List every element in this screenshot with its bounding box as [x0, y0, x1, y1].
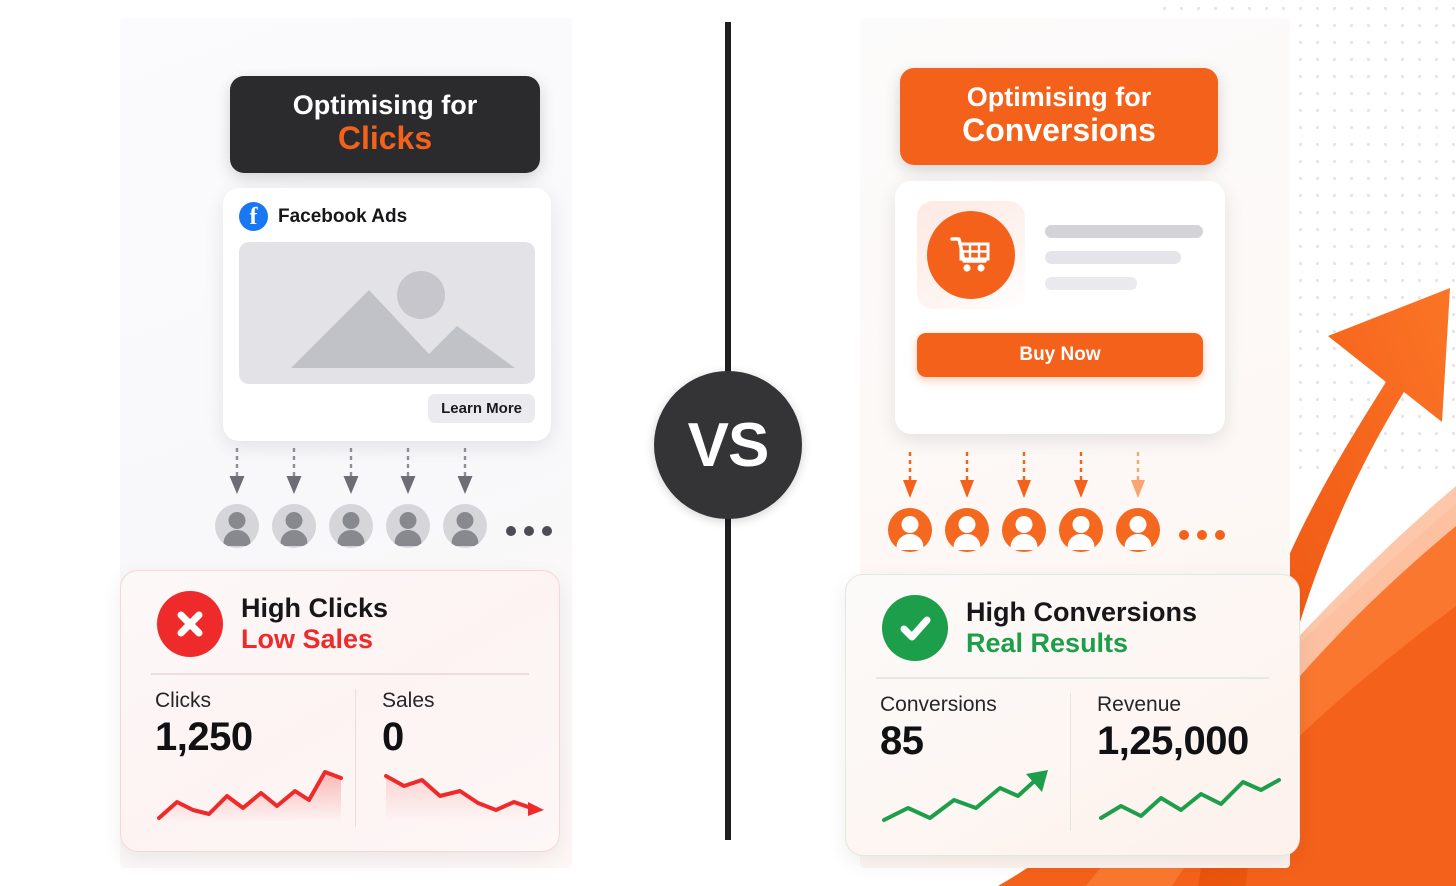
conversions-column: Optimising for Conversions: [860, 18, 1290, 868]
result-card-header: High Conversions Real Results: [870, 595, 1275, 661]
product-text-skeleton: [1045, 221, 1203, 290]
result-title-line2: Low Sales: [241, 624, 388, 655]
stat-conversions: Conversions 85: [870, 693, 1070, 831]
stat-label: Clicks: [155, 689, 345, 713]
person-icon: [1059, 508, 1103, 552]
product-thumbnail: [917, 201, 1025, 309]
product-card: Buy Now: [895, 181, 1225, 434]
person-icon: [215, 504, 259, 548]
conversions-stats-row: Conversions 85 Revenue 1,25,000: [870, 693, 1275, 831]
stat-value: 85: [880, 719, 1060, 764]
skeleton-line: [1045, 251, 1181, 264]
down-arrow-icon: [1071, 450, 1091, 502]
skeleton-line: [1045, 225, 1203, 238]
ad-card-header: Facebook Ads: [239, 202, 535, 231]
ad-cta-row: Learn More: [239, 394, 535, 423]
clicks-sparkline: [155, 764, 345, 822]
vs-badge: VS: [654, 371, 802, 519]
learn-more-button[interactable]: Learn More: [428, 394, 535, 423]
divider: [151, 673, 529, 675]
audience-avatar-item: [329, 446, 373, 548]
stat-revenue: Revenue 1,25,000: [1070, 693, 1297, 831]
revenue-sparkline: [1097, 768, 1287, 826]
person-icon: [1002, 508, 1046, 552]
ad-platform-label: Facebook Ads: [278, 206, 407, 228]
audience-overflow-dots: [1179, 530, 1225, 552]
down-arrow-icon: [227, 446, 247, 498]
product-card-body: [917, 201, 1203, 309]
audience-avatar-item: [272, 446, 316, 548]
audience-overflow-dots: [506, 526, 552, 548]
result-card-header: High Clicks Low Sales: [145, 591, 535, 657]
audience-avatar-item: [386, 446, 430, 548]
stat-clicks: Clicks 1,250: [145, 689, 355, 827]
down-arrow-icon: [957, 450, 977, 502]
headline-line2: Conversions: [910, 112, 1208, 149]
person-icon: [1116, 508, 1160, 552]
result-title-line1: High Conversions: [966, 597, 1197, 628]
person-icon: [272, 504, 316, 548]
facebook-icon: [239, 202, 268, 231]
shopping-cart-icon: [927, 211, 1015, 299]
stat-value: 1,25,000: [1097, 719, 1287, 764]
infographic-canvas: Optimising for Clicks Facebook Ads Learn…: [0, 0, 1456, 886]
stat-label: Conversions: [880, 693, 1060, 717]
audience-avatar-item: [888, 450, 932, 552]
clicks-stats-row: Clicks 1,250 Sales 0: [145, 689, 535, 827]
headline-line1: Optimising for: [240, 90, 530, 120]
audience-avatar-item: [1116, 450, 1160, 552]
person-icon: [443, 504, 487, 548]
clicks-column: Optimising for Clicks Facebook Ads Learn…: [120, 18, 572, 868]
divider: [876, 677, 1269, 679]
stat-value: 0: [382, 715, 552, 760]
audience-avatar-item: [1002, 450, 1046, 552]
person-icon: [945, 508, 989, 552]
down-arrow-icon: [455, 446, 475, 498]
result-title-line2: Real Results: [966, 628, 1197, 659]
stat-label: Sales: [382, 689, 552, 713]
person-icon: [888, 508, 932, 552]
down-arrow-icon: [900, 450, 920, 502]
sales-sparkline: [382, 764, 552, 822]
audience-avatar-item: [215, 446, 259, 548]
audience-avatar-item: [945, 450, 989, 552]
person-icon: [386, 504, 430, 548]
buy-now-button[interactable]: Buy Now: [917, 333, 1203, 377]
audience-avatar-item: [443, 446, 487, 548]
clicks-headline-pill: Optimising for Clicks: [230, 76, 540, 173]
stat-value: 1,250: [155, 715, 345, 760]
conversions-result-card: High Conversions Real Results Conversion…: [845, 574, 1300, 856]
facebook-ad-card: Facebook Ads Learn More: [223, 188, 551, 441]
conversions-audience-row: [888, 450, 1225, 552]
conversions-headline-pill: Optimising for Conversions: [900, 68, 1218, 165]
stat-label: Revenue: [1097, 693, 1287, 717]
conversions-sparkline: [880, 768, 1060, 826]
down-arrow-icon: [341, 446, 361, 498]
result-title-line1: High Clicks: [241, 593, 388, 624]
down-arrow-icon: [1128, 450, 1148, 502]
headline-line2: Clicks: [240, 120, 530, 157]
clicks-audience-row: [215, 446, 552, 548]
clicks-result-card: High Clicks Low Sales Clicks 1,250: [120, 570, 560, 852]
image-placeholder-icon: [239, 242, 535, 384]
x-circle-icon: [157, 591, 223, 657]
person-icon: [329, 504, 373, 548]
down-arrow-icon: [284, 446, 304, 498]
audience-avatar-item: [1059, 450, 1103, 552]
check-circle-icon: [882, 595, 948, 661]
skeleton-line: [1045, 277, 1137, 290]
down-arrow-icon: [1014, 450, 1034, 502]
headline-line1: Optimising for: [910, 82, 1208, 112]
down-arrow-icon: [398, 446, 418, 498]
stat-sales: Sales 0: [355, 689, 562, 827]
